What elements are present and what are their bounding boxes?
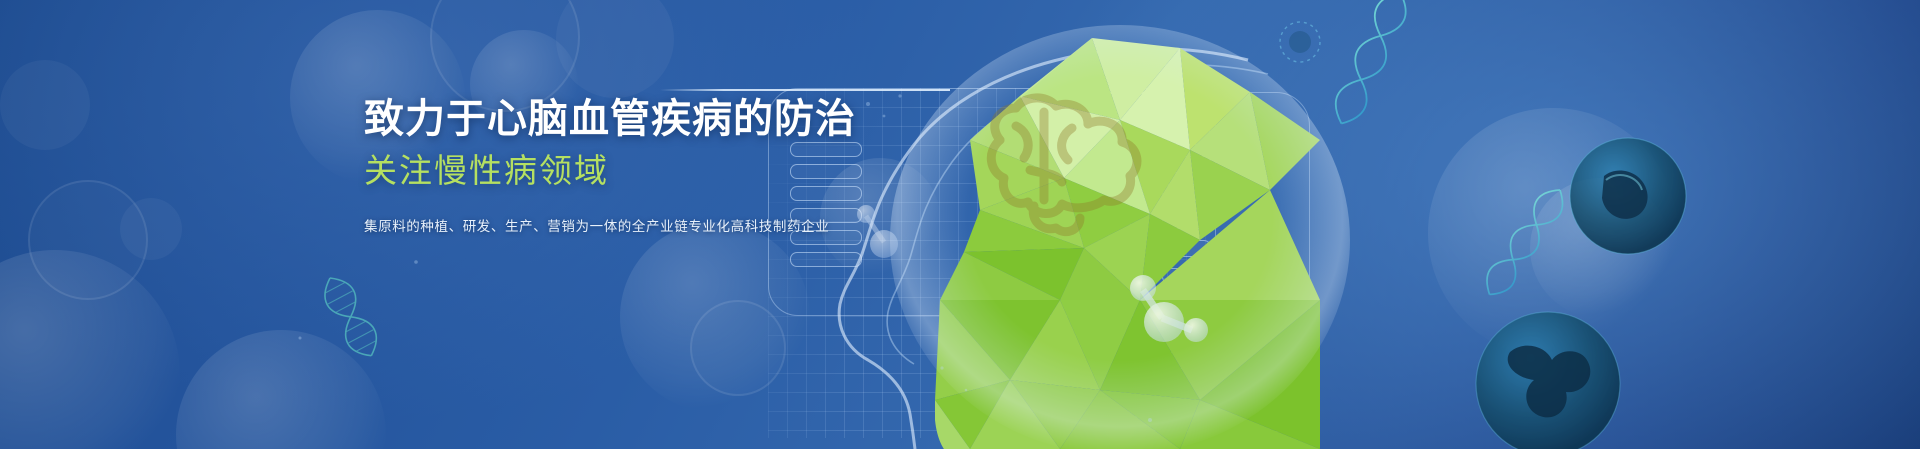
hud-right-pill (1162, 268, 1212, 285)
hud-right-pill (1162, 156, 1212, 173)
hero-banner: 致力于心脑血管疾病的防治 关注慢性病领域 集原料的种植、研发、生产、营销为一体的… (0, 0, 1920, 449)
cell-icon (1570, 138, 1686, 254)
bokeh-circle (120, 198, 182, 260)
cell-icon (1476, 312, 1620, 449)
headline-emphasis: 心脑血管疾病 (487, 97, 733, 141)
hud-pill-row (790, 252, 862, 267)
page-subtitle: 关注慢性病领域 (364, 150, 1064, 193)
headline-prefix: 致力于 (364, 97, 487, 141)
page-title: 致力于心脑血管疾病的防治 (364, 95, 1064, 144)
bokeh-circle (690, 300, 786, 396)
hud-top-line (660, 89, 950, 91)
hud-right-pill (1162, 324, 1212, 341)
hud-right-pill (1162, 212, 1212, 229)
bokeh-circle (0, 250, 180, 449)
bokeh-circle (1428, 108, 1678, 358)
dna-helix-icon (1328, 0, 1414, 130)
page-tagline: 集原料的种植、研发、生产、营销为一体的全产业链专业化高科技制药企业 (364, 215, 1064, 235)
hero-copy: 致力于心脑血管疾病的防治 关注慢性病领域 集原料的种植、研发、生产、营销为一体的… (364, 95, 1064, 235)
headline-suffix: 的防治 (733, 97, 856, 141)
head-halo (890, 25, 1350, 449)
bokeh-circle (556, 0, 674, 98)
cell-icon (1280, 22, 1320, 62)
hud-panel-right (1130, 92, 1310, 432)
hud-right-pill (1162, 184, 1212, 201)
hud-right-line (1030, 92, 1180, 94)
hud-right-pill (1162, 296, 1212, 313)
bokeh-circle (620, 222, 810, 412)
bokeh-circle (0, 60, 90, 150)
bokeh-circle (28, 180, 148, 300)
bokeh-circle (176, 330, 386, 449)
hud-right-pill (1162, 128, 1212, 145)
dna-helix-icon (317, 271, 385, 363)
dna-helix-icon (1478, 182, 1571, 302)
hud-right-pill (1162, 240, 1212, 257)
hud-right-pill (1162, 352, 1212, 369)
bokeh-circle (1530, 178, 1670, 318)
